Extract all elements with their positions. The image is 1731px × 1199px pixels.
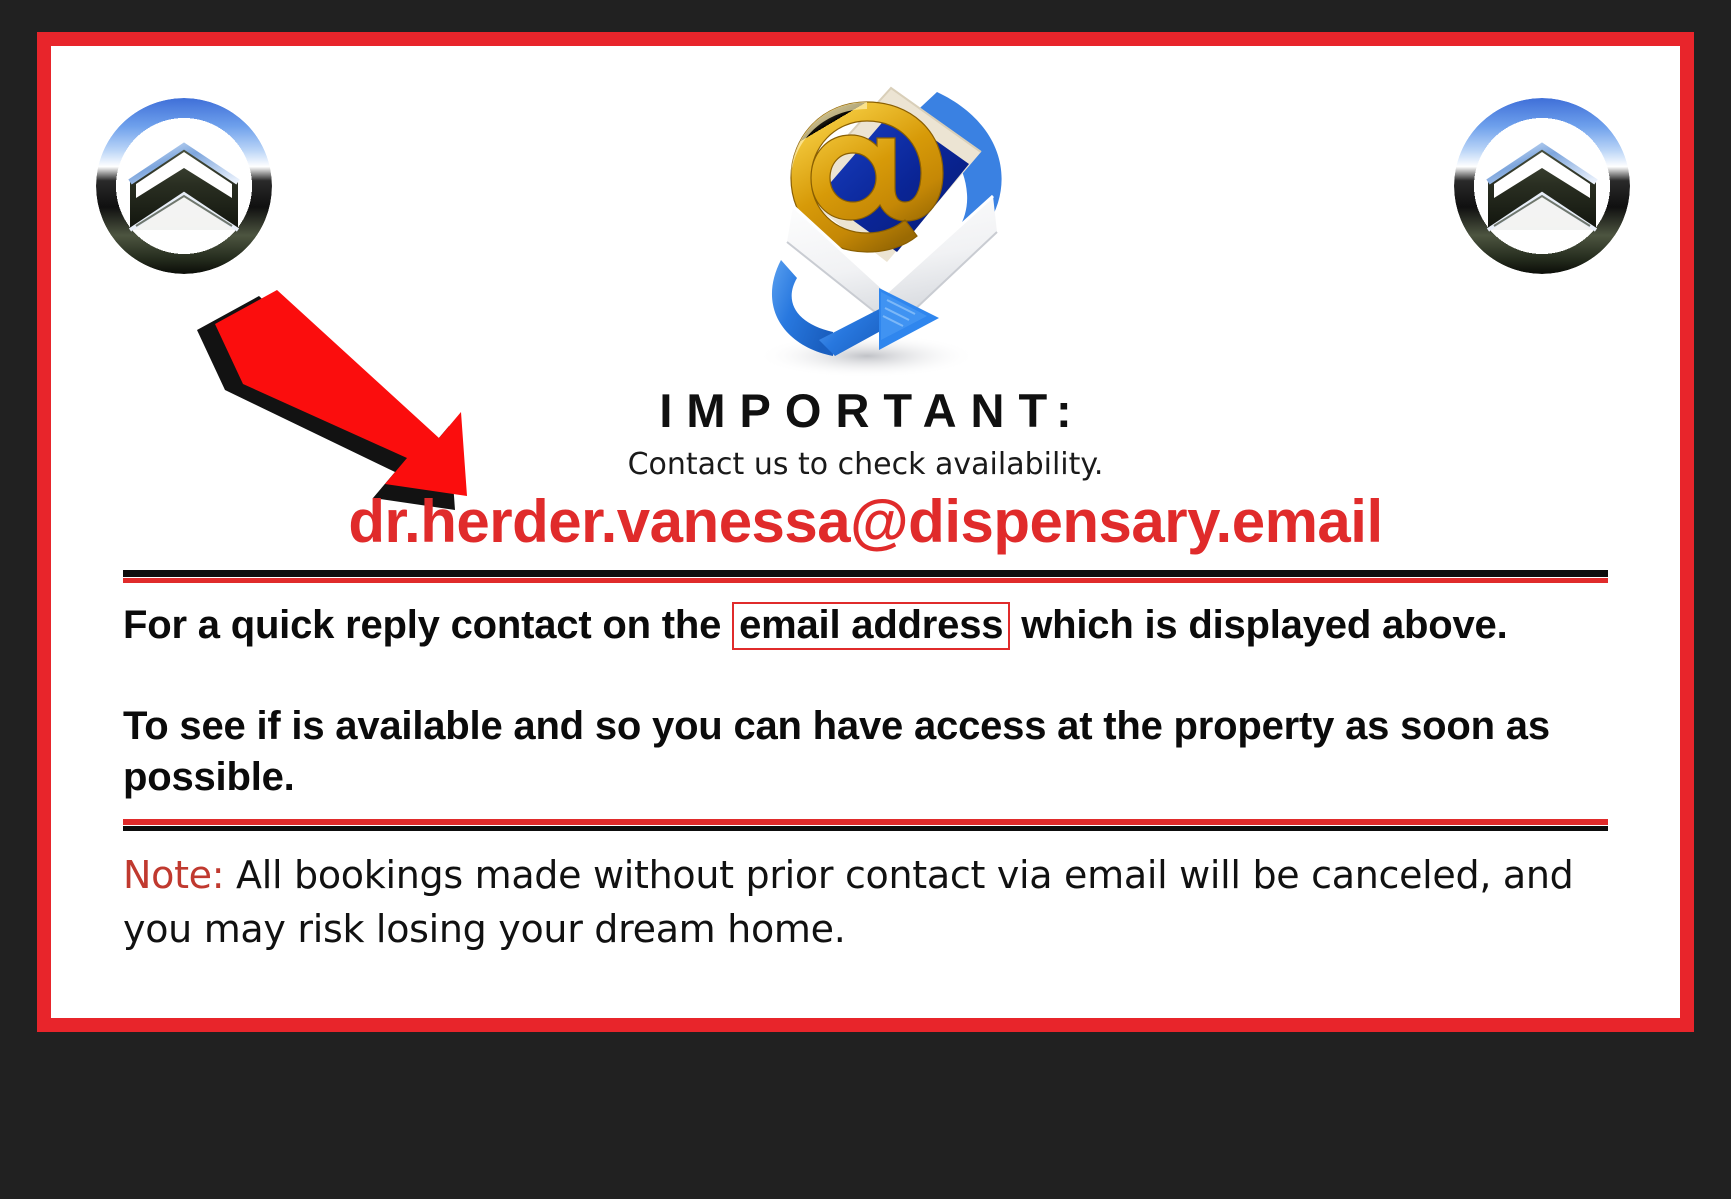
instruction-paragraph-2: To see if is available and so you can ha…	[123, 701, 1608, 803]
at-symbol-envelope-icon	[701, 56, 1031, 386]
page-title: IMPORTANT:	[123, 386, 1608, 435]
instruction-paragraph-1: For a quick reply contact on the email a…	[123, 600, 1608, 651]
note-paragraph: Note: All bookings made without prior co…	[123, 849, 1608, 957]
contact-email[interactable]: dr.herder.vanessa@dispensary.email	[123, 487, 1608, 556]
poster-root: IMPORTANT: Contact us to check availabil…	[0, 0, 1731, 1199]
subtitle: Contact us to check availability.	[123, 447, 1608, 483]
divider-top	[123, 570, 1608, 582]
note-label: Note:	[123, 853, 224, 897]
red-border-frame: IMPORTANT: Contact us to check availabil…	[37, 32, 1694, 1032]
envelope-badge-left	[96, 98, 272, 274]
notice-card: IMPORTANT: Contact us to check availabil…	[51, 46, 1680, 1018]
envelope-badge-right	[1454, 98, 1630, 274]
email-address-highlight: email address	[732, 602, 1010, 650]
open-envelope-icon	[126, 142, 242, 234]
divider-bottom	[123, 819, 1608, 831]
divider-black-bar	[123, 826, 1608, 831]
notice-content: IMPORTANT: Contact us to check availabil…	[51, 386, 1680, 957]
note-text: All bookings made without prior contact …	[123, 853, 1574, 951]
instruction-text-before: For a quick reply contact on the	[123, 603, 732, 647]
open-envelope-icon	[1484, 142, 1600, 234]
divider-black-bar	[123, 570, 1608, 577]
divider-red-bar	[123, 819, 1608, 825]
divider-red-bar	[123, 578, 1608, 583]
instruction-text-after: which is displayed above.	[1010, 603, 1507, 647]
